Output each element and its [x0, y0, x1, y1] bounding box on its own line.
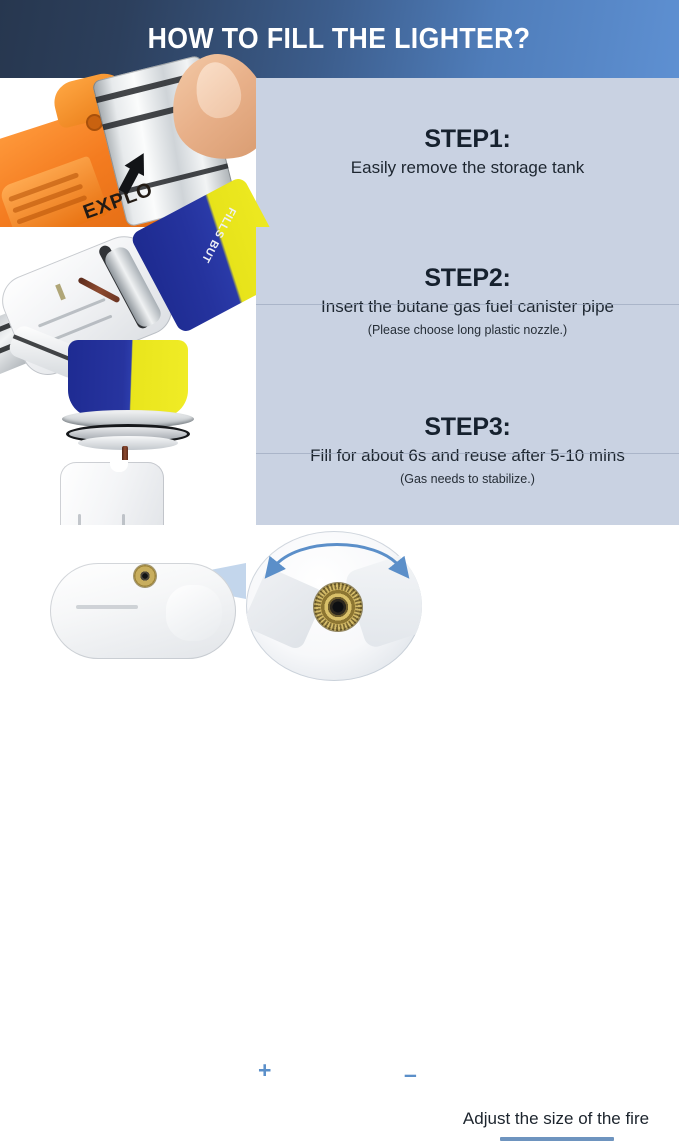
- valve-housing-icon: [166, 585, 222, 641]
- step-row: EXPLO STEP1: Easily remove the storage t…: [0, 78, 679, 227]
- increase-flame-symbol: +: [258, 1059, 271, 1082]
- step3-photo: [0, 376, 256, 525]
- step-row: STEP3: Fill for about 6s and reuse after…: [0, 376, 679, 525]
- rotation-arrow-icon: [252, 533, 422, 577]
- step3-description: Fill for about 6s and reuse after 5-10 m…: [310, 446, 625, 466]
- adjust-section: + – Adjust the size of the fire: [0, 525, 679, 668]
- adjust-caption: Adjust the size of the fire: [448, 1109, 664, 1129]
- step1-heading: STEP1:: [424, 127, 510, 152]
- step-divider: [256, 304, 679, 305]
- step3-heading: STEP3:: [424, 415, 510, 440]
- step2-heading: STEP2:: [424, 266, 510, 291]
- step3-text: STEP3: Fill for about 6s and reuse after…: [256, 376, 679, 525]
- step3-note: (Gas needs to stabilize.): [400, 472, 535, 486]
- steps-section: EXPLO STEP1: Easily remove the storage t…: [0, 78, 679, 525]
- header-banner: HOW TO FILL THE LIGHTER?: [0, 0, 679, 78]
- flame-adjust-knob-icon[interactable]: [134, 565, 156, 587]
- decrease-flame-symbol: –: [404, 1063, 417, 1086]
- butane-canister-icon: [68, 340, 188, 418]
- step2-description: Insert the butane gas fuel canister pipe: [321, 297, 614, 317]
- canister-base-icon: [78, 436, 178, 450]
- step1-description: Easily remove the storage tank: [351, 158, 584, 178]
- page-title: HOW TO FILL THE LIGHTER?: [148, 23, 531, 56]
- step2-note: (Please choose long plastic nozzle.): [368, 323, 567, 337]
- flame-adjust-knob-magnified-icon[interactable]: [314, 583, 362, 631]
- step-divider: [256, 453, 679, 454]
- base-seam-icon: [76, 605, 138, 609]
- caption-underline: [500, 1137, 614, 1141]
- step1-text: STEP1: Easily remove the storage tank: [256, 78, 679, 227]
- step2-text: STEP2: Insert the butane gas fuel canist…: [256, 227, 679, 376]
